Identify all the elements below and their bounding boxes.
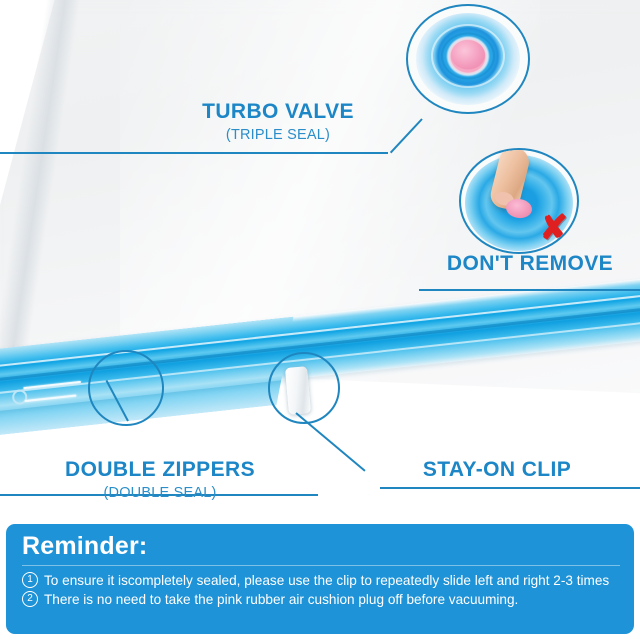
pink-plug-icon [505,197,533,219]
reminder-list: 1 To ensure it iscompletely sealed, plea… [22,572,620,609]
callout-subtitle-double-zippers: (DOUBLE SEAL) [30,484,290,502]
reminder-item: 1 To ensure it iscompletely sealed, plea… [22,572,620,589]
reminder-item: 2 There is no need to take the pink rubb… [22,591,620,608]
reminder-item-number: 2 [22,591,38,607]
zipper-track-upper [23,381,81,389]
valve-icon [416,13,520,105]
leader-line-dont-remove-underline [419,289,640,291]
red-x-icon: ✘ [540,212,569,246]
callout-title-turbo-valve: TURBO VALVE [148,100,408,124]
reminder-divider [22,565,620,566]
callout-label-stay-on-clip: STAY-ON CLIP [372,458,622,482]
product-infographic: ✘ TURBO VALVE (TRIPLE SEAL) DON'T REMOVE… [0,0,640,640]
callout-circle-turbo-valve [406,4,530,114]
reminder-item-text: There is no need to take the pink rubber… [44,592,518,607]
callout-subtitle-turbo-valve: (TRIPLE SEAL) [148,126,408,144]
reminder-title: Reminder: [22,533,620,560]
leader-line-stay-on-clip-underline [380,487,640,489]
callout-label-double-zippers: DOUBLE ZIPPERS (DOUBLE SEAL) [30,458,290,502]
zipper-pull-ring [11,389,28,406]
pink-plug-icon [451,41,485,70]
callout-title-double-zippers: DOUBLE ZIPPERS [30,458,290,482]
zipper-track-lower [25,394,77,402]
callout-circle-dont-remove: ✘ [459,148,579,254]
callout-title-dont-remove: DON'T REMOVE [420,252,640,276]
callout-label-turbo-valve: TURBO VALVE (TRIPLE SEAL) [148,100,408,144]
product-photo: ✘ TURBO VALVE (TRIPLE SEAL) DON'T REMOVE… [0,0,640,520]
callout-title-stay-on-clip: STAY-ON CLIP [372,458,622,482]
callout-circle-stay-on-clip [268,352,340,424]
reminder-banner: Reminder: 1 To ensure it iscompletely se… [6,524,634,634]
leader-line-turbo-valve-underline [0,152,388,154]
reminder-item-text: To ensure it iscompletely sealed, please… [44,573,609,588]
reminder-item-number: 1 [22,572,38,588]
callout-label-dont-remove: DON'T REMOVE [420,252,640,276]
